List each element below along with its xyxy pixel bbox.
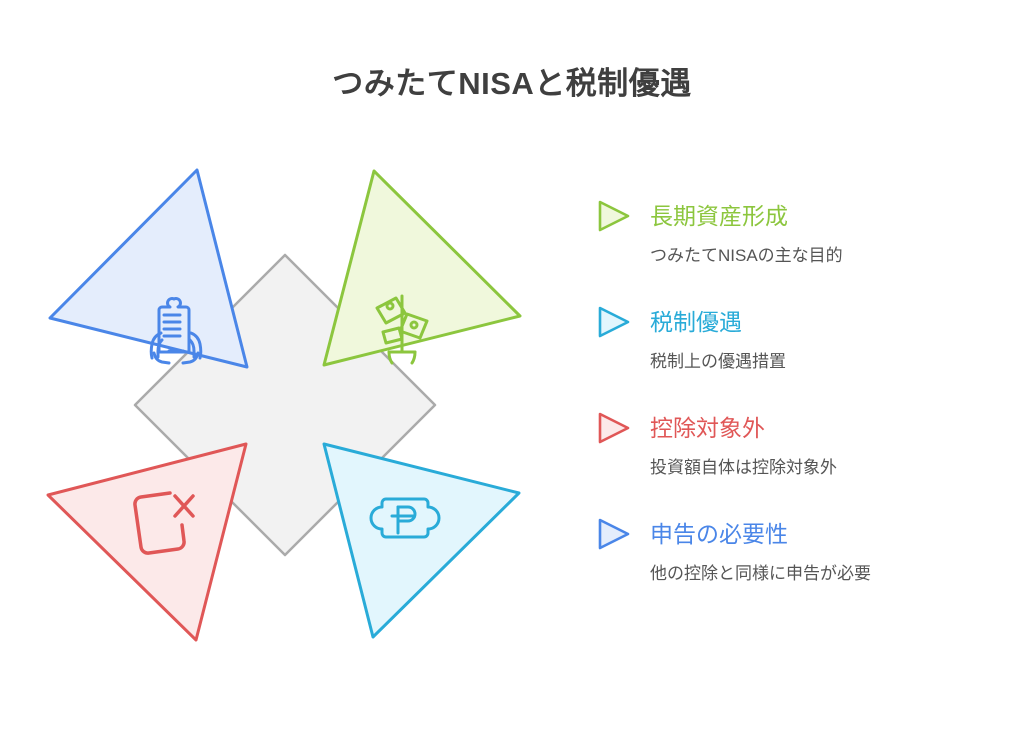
legend-title: 申告の必要性 bbox=[650, 523, 788, 546]
legend-head: 長期資産形成 bbox=[596, 196, 996, 236]
legend-item-long-term-asset-growth[interactable]: 長期資産形成 つみたてNISAの主な目的 bbox=[596, 196, 996, 276]
triangle-tax-benefit-shape bbox=[324, 444, 519, 637]
legend-item-not-deductible[interactable]: 控除対象外 投資額自体は控除対象外 bbox=[596, 408, 996, 488]
legend-marker-tax-benefit bbox=[596, 305, 632, 339]
triangle-filing-shape bbox=[50, 170, 247, 367]
legend-marker-not-deductible bbox=[596, 411, 632, 445]
legend-title: 長期資産形成 bbox=[650, 205, 788, 228]
legend-item-declaration-required[interactable]: 申告の必要性 他の控除と同様に申告が必要 bbox=[596, 514, 996, 594]
triangle-filing bbox=[50, 170, 247, 367]
triangle-asset-growth bbox=[324, 171, 520, 365]
legend-marker-declaration-required bbox=[596, 517, 632, 551]
legend-head: 申告の必要性 bbox=[596, 514, 996, 554]
legend-description: 投資額自体は控除対象外 bbox=[650, 457, 996, 479]
legend-marker-long-term-asset-growth bbox=[596, 199, 632, 233]
legend-item-tax-benefit[interactable]: 税制優遇 税制上の優遇措置 bbox=[596, 302, 996, 382]
triangle-tax-benefit bbox=[324, 444, 519, 637]
legend-head: 税制優遇 bbox=[596, 302, 996, 342]
triangle-not-deductible bbox=[48, 444, 246, 640]
legend-head: 控除対象外 bbox=[596, 408, 996, 448]
legend-title: 控除対象外 bbox=[650, 417, 765, 440]
legend: 長期資産形成 つみたてNISAの主な目的 税制優遇 税制上の優遇措置 控除対象外… bbox=[596, 196, 996, 620]
slide-canvas: つみたてNISAと税制優遇 bbox=[0, 0, 1024, 740]
legend-title: 税制優遇 bbox=[650, 311, 742, 334]
legend-description: 他の控除と同様に申告が必要 bbox=[650, 563, 996, 585]
pinwheel-diagram bbox=[30, 150, 550, 670]
triangle-not-deductible-shape bbox=[48, 444, 246, 640]
legend-description: 税制上の優遇措置 bbox=[650, 351, 996, 373]
legend-description: つみたてNISAの主な目的 bbox=[650, 245, 996, 267]
page-title: つみたてNISAと税制優遇 bbox=[0, 58, 1024, 103]
